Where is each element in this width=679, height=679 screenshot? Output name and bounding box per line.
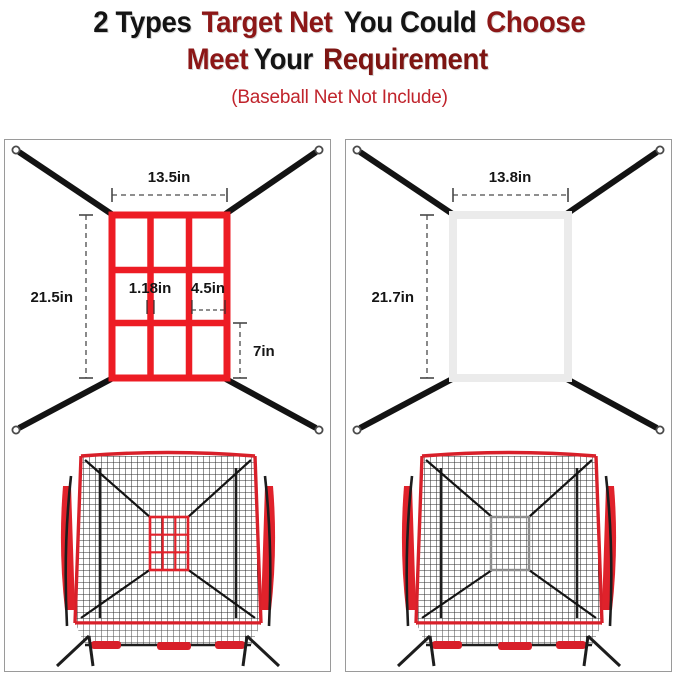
- comparison-panels: 13.5in 21.5in 1.18in: [0, 139, 679, 674]
- bungee-cord-bottom-left: [12, 378, 113, 434]
- photo-net-with-solid-target: [346, 438, 671, 671]
- headline-word-run-0: 2 Types: [93, 8, 191, 38]
- bungee-cord-top-right: [565, 146, 664, 215]
- net-bottom-trough: [416, 623, 602, 650]
- baseball-net-illustration-grid: [5, 438, 330, 671]
- bungee-cord-bottom-right: [565, 378, 664, 434]
- dimension-overall-width-label: 13.5in: [148, 169, 191, 186]
- headline-word-run-1: Your: [254, 45, 313, 75]
- hook-icon: [353, 146, 360, 153]
- hook-icon: [656, 426, 663, 433]
- diagram-grid-target: 13.5in 21.5in 1.18in: [5, 140, 330, 440]
- grid-target-drawing: 13.5in 21.5in 1.18in: [5, 140, 330, 440]
- bungee-cord-top-left: [353, 146, 454, 215]
- hook-icon: [315, 146, 322, 153]
- dimension-overall-width-label: 13.8in: [489, 169, 532, 186]
- dimension-overall-height: 21.7in: [371, 215, 434, 378]
- dimension-overall-width: 13.8in: [453, 169, 568, 202]
- dimension-bottom-row-height: 7in: [233, 323, 275, 378]
- dimension-overall-height: 21.5in: [30, 215, 93, 378]
- dimension-bar-thickness-label: 1.18in: [129, 280, 172, 297]
- headline-word-run-2: You Could: [344, 8, 477, 38]
- hook-icon: [353, 426, 360, 433]
- headline-line-1: 2 Types Target Net You Could Choose: [0, 0, 679, 38]
- hook-icon: [315, 426, 322, 433]
- infographic-header: 2 Types Target Net You Could Choose Meet…: [0, 0, 679, 132]
- headline-word-run-0: Meet: [187, 45, 248, 75]
- panel-grid-target: 13.5in 21.5in 1.18in: [4, 139, 331, 672]
- photo-net-with-grid-target: [5, 438, 330, 671]
- diagram-solid-target: 13.8in 21.7in: [346, 140, 671, 440]
- headline-word-run-3: Choose: [486, 8, 585, 38]
- bungee-cord-top-right: [224, 146, 323, 215]
- net-mesh-face: [416, 456, 602, 623]
- bungee-cord-bottom-left: [353, 378, 454, 434]
- net-mesh-face: [75, 456, 261, 623]
- dimension-overall-height-label: 21.7in: [371, 289, 414, 306]
- panel-solid-target: 13.8in 21.7in: [345, 139, 672, 672]
- dimension-overall-height-label: 21.5in: [30, 289, 73, 306]
- bungee-cord-top-left: [12, 146, 113, 215]
- net-bottom-trough: [75, 623, 261, 650]
- hook-icon: [12, 146, 19, 153]
- headline-line-2: Meet Your Requirement: [0, 38, 679, 75]
- dimension-overall-width: 13.5in: [112, 169, 227, 202]
- dimension-bottom-row-height-label: 7in: [253, 343, 275, 360]
- dimension-cell-width-label: 4.5in: [191, 280, 225, 297]
- baseball-net-illustration-solid: [346, 438, 671, 671]
- headline-word-run-2: Requirement: [323, 45, 488, 75]
- hook-icon: [12, 426, 19, 433]
- headline-word-run-1: Target Net: [202, 8, 333, 38]
- headline-subtitle: (Baseball Net Not Include): [0, 75, 679, 109]
- solid-target-drawing: 13.8in 21.7in: [346, 140, 671, 440]
- bungee-cord-bottom-right: [224, 378, 323, 434]
- solid-white-frame-target: [453, 215, 568, 378]
- dimension-cell-width: 4.5in: [191, 280, 225, 314]
- hook-icon: [656, 146, 663, 153]
